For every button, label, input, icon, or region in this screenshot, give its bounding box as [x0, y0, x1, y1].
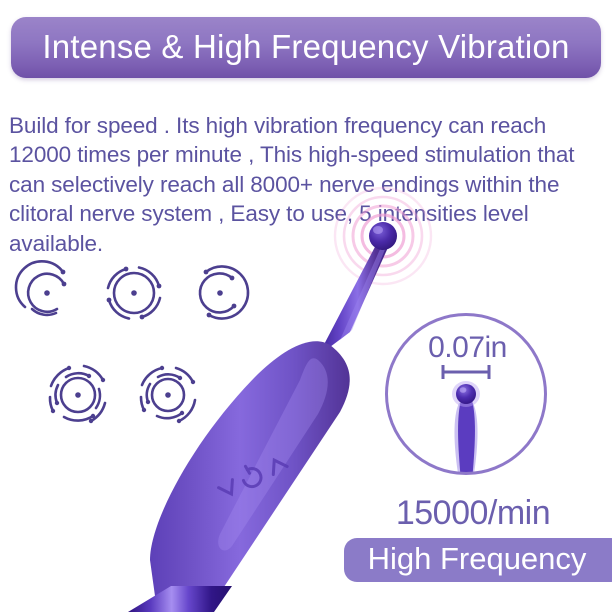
frequency-value: 15000/min: [334, 496, 612, 530]
high-frequency-badge-label: High Frequency: [368, 543, 587, 577]
high-frequency-badge: High Frequency: [344, 538, 612, 582]
vibration-mode-icon-5: [141, 366, 195, 423]
vibration-mode-icon-1: [16, 261, 66, 315]
vibration-mode-icon-3: [200, 266, 248, 318]
vibration-mode-icon-4: [50, 366, 105, 423]
up-chevron-icon: [267, 456, 287, 474]
power-icon: [240, 465, 265, 490]
description-paragraph: Build for speed . Its high vibration fre…: [9, 111, 609, 259]
vibration-mode-icon-2: [107, 267, 162, 320]
product-handle: [128, 586, 232, 612]
vibration-mode-icon-group: [2, 250, 262, 440]
product-control-buttons: [216, 448, 288, 502]
measurement-label: 0.07in: [410, 333, 525, 363]
product-neck: [318, 243, 390, 356]
title-banner: Intense & High Frequency Vibration: [11, 17, 601, 78]
down-chevron-icon: [219, 480, 239, 498]
page-title: Intense & High Frequency Vibration: [42, 30, 569, 66]
